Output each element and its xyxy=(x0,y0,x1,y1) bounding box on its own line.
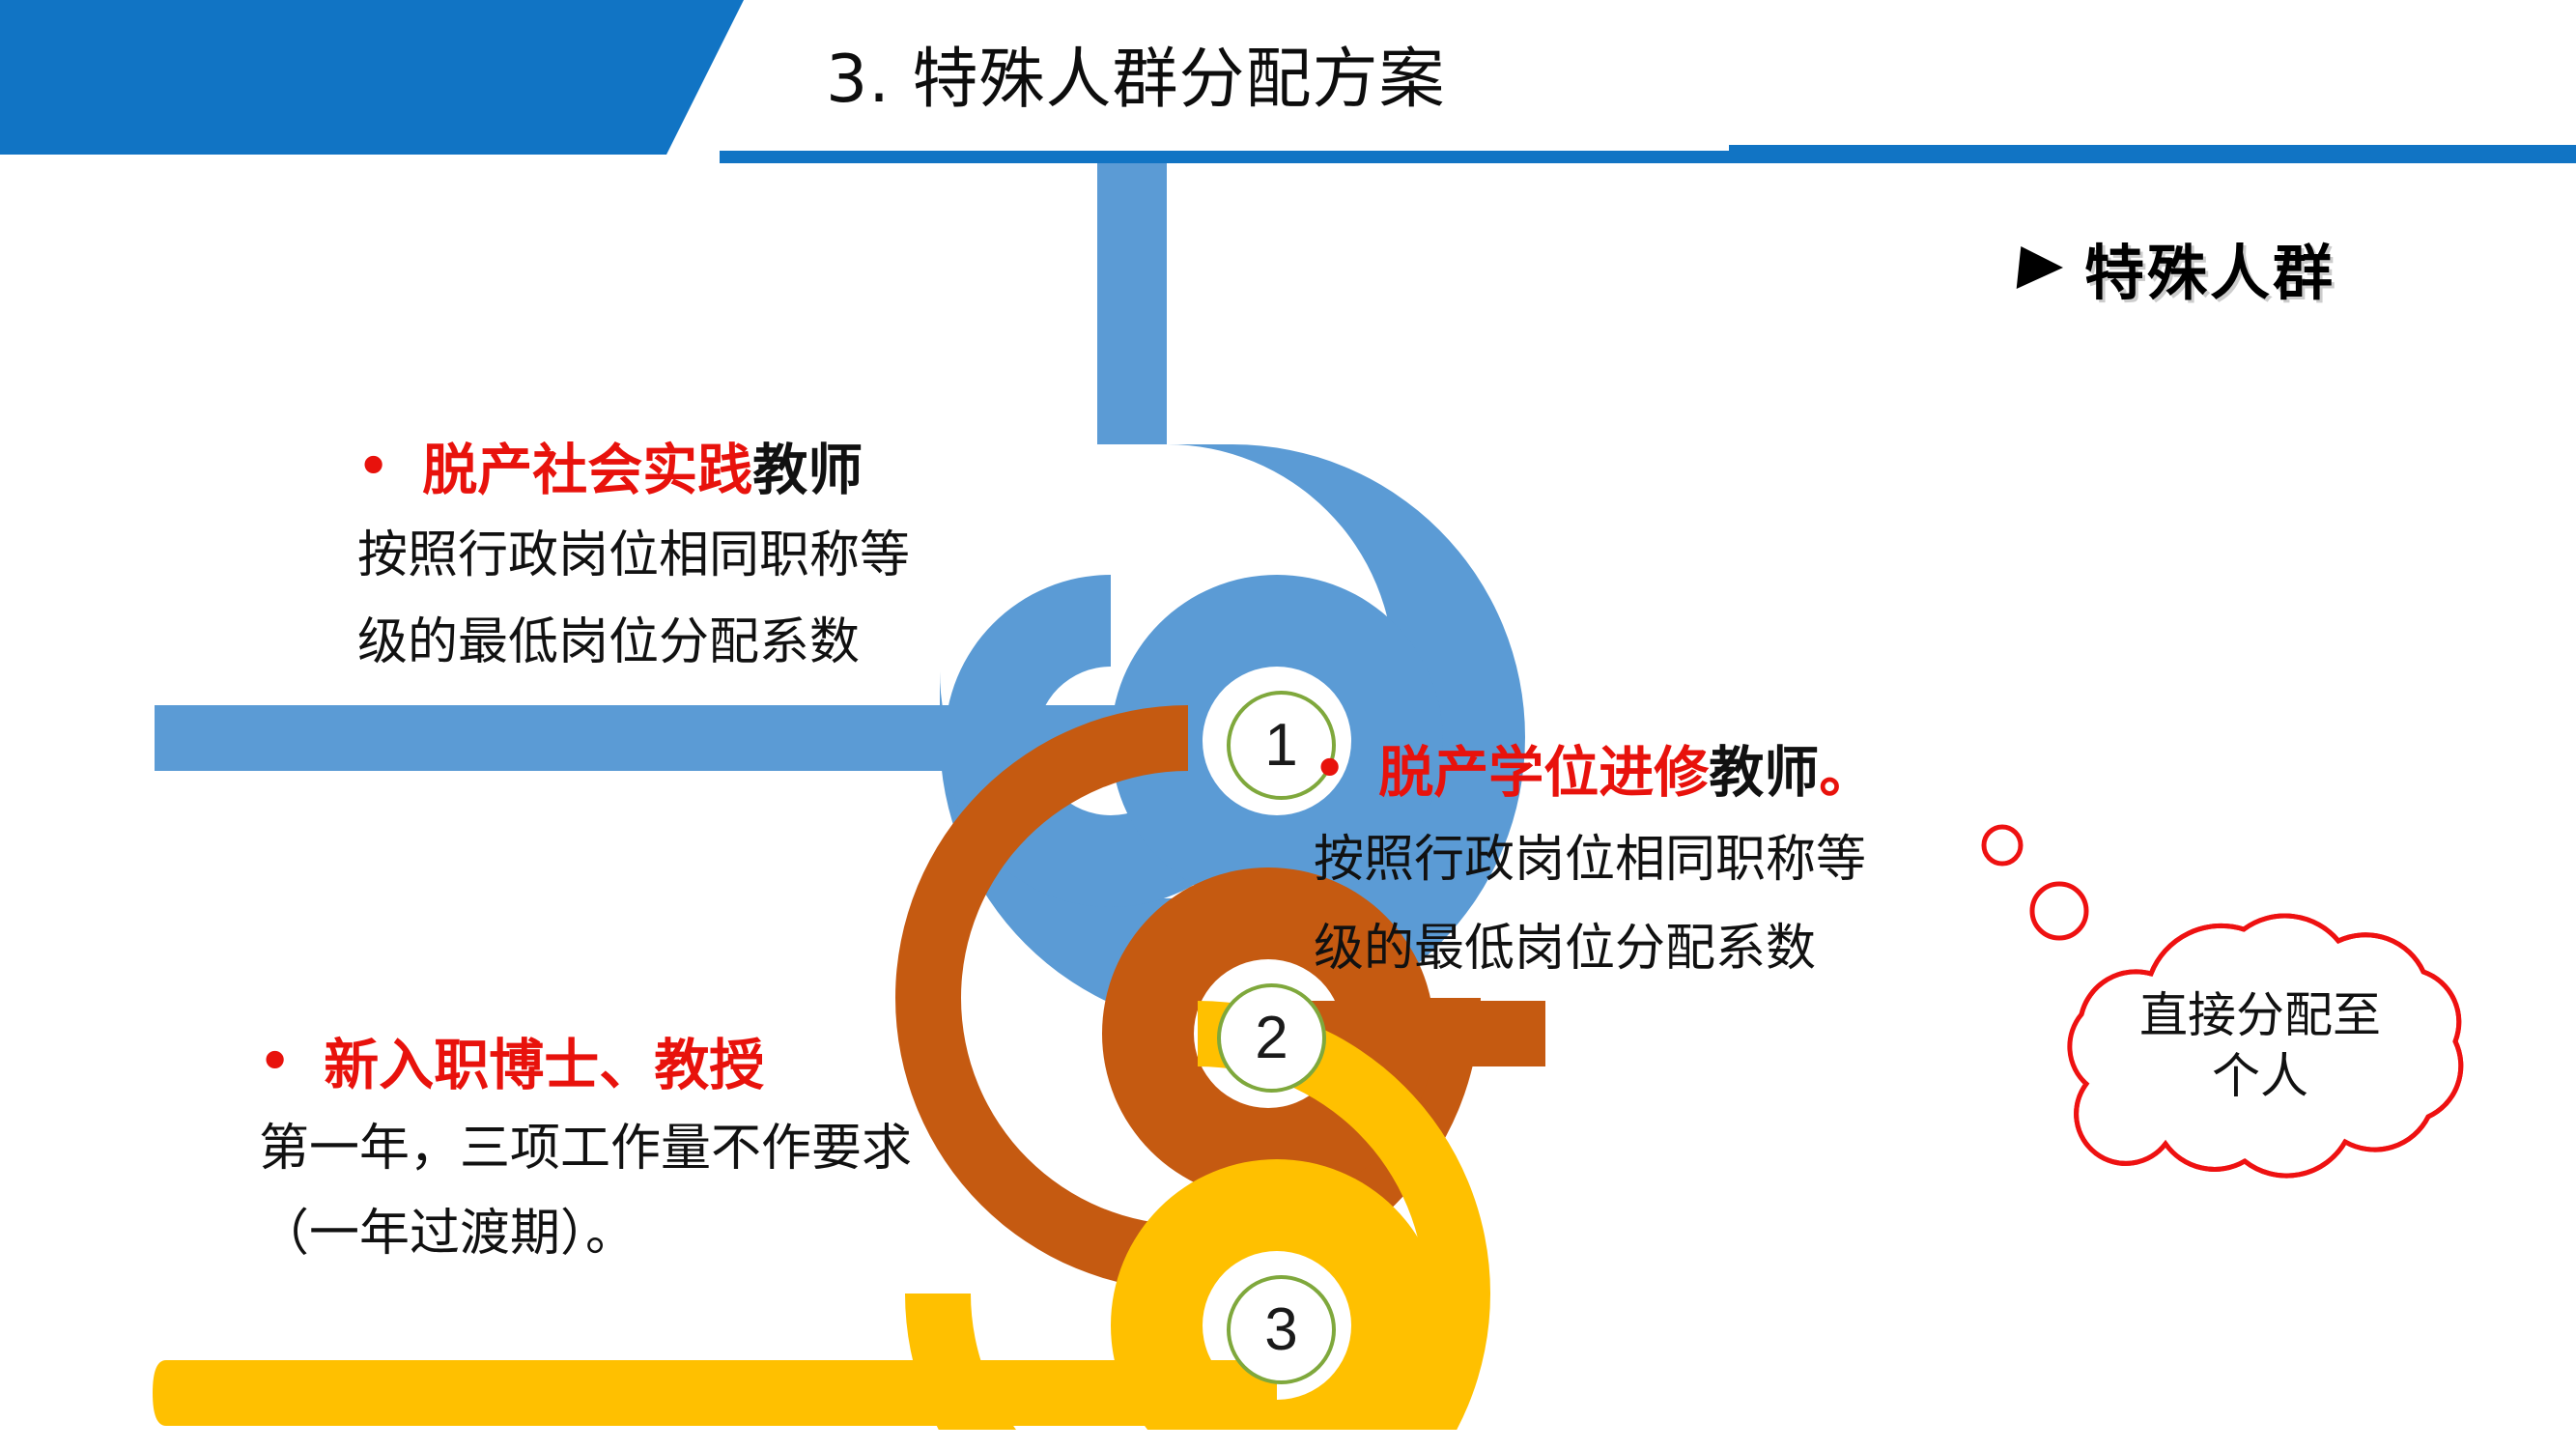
item-3-title-highlight: 新入职博士、教授 xyxy=(324,1032,764,1100)
item-1-body-line-2: 级的最低岗位分配系数 xyxy=(357,608,910,679)
item-1-title-rest: 教师 xyxy=(752,437,863,505)
item-1-title-highlight: 脱产社会实践 xyxy=(422,437,752,505)
item-1-body-line-1: 按照行政岗位相同职称等 xyxy=(357,521,910,592)
bullet-dot-icon: • xyxy=(1314,744,1345,794)
slide-root: 三、奖励性绩效分配 3. 特殊人群分配方案 特殊人群 xyxy=(0,0,2576,1450)
item-block-1: • 脱产社会实践 教师 按照行政岗位相同职称等 级的最低岗位分配系数 xyxy=(357,437,910,679)
item-2-body-line-2: 级的最低岗位分配系数 xyxy=(1314,914,1874,985)
item-1-title: • 脱产社会实践 教师 xyxy=(357,437,910,505)
header-underline-right xyxy=(1729,145,2576,156)
item-2-body-line-1: 按照行政岗位相同职称等 xyxy=(1314,825,1874,896)
right-heading-label: 特殊人群 xyxy=(2084,224,2335,311)
spiral-step-number-2: 2 xyxy=(1217,983,1326,1093)
item-block-3: • 新入职博士、教授 第一年，三项工作量不作要求 （一年过渡期）。 xyxy=(259,1032,912,1270)
item-3-body-line-2: （一年过渡期）。 xyxy=(259,1199,912,1270)
right-heading: 特殊人群 xyxy=(2019,224,2335,311)
header-section-band xyxy=(0,0,744,155)
bullet-dot-icon: • xyxy=(357,441,389,492)
item-2-title-tail: 。 xyxy=(1819,739,1874,808)
cloud-callout-line-1: 直接分配至 xyxy=(2077,985,2444,1046)
triangle-right-bullet-icon xyxy=(2017,246,2066,289)
item-3-body-line-1: 第一年，三项工作量不作要求 xyxy=(259,1114,912,1185)
thought-cloud-callout: 直接分配至 个人 xyxy=(1970,821,2550,1227)
item-2-title-rest: 教师 xyxy=(1709,739,1819,808)
cloud-bubble-medium xyxy=(2032,884,2086,938)
cloud-bubble-small xyxy=(1984,827,2021,864)
item-2-title: • 脱产学位进修 教师 。 xyxy=(1314,739,1874,808)
cloud-callout-line-2: 个人 xyxy=(2077,1046,2444,1107)
cloud-callout-text: 直接分配至 个人 xyxy=(2077,985,2444,1106)
item-2-title-highlight: 脱产学位进修 xyxy=(1378,739,1709,808)
item-block-2: • 脱产学位进修 教师 。 按照行政岗位相同职称等 级的最低岗位分配系数 xyxy=(1314,739,1874,985)
bullet-dot-icon: • xyxy=(259,1037,291,1087)
page-title: 3. 特殊人群分配方案 xyxy=(826,25,1446,121)
item-3-title: • 新入职博士、教授 xyxy=(259,1032,912,1100)
spiral-step-number-3: 3 xyxy=(1227,1275,1336,1384)
